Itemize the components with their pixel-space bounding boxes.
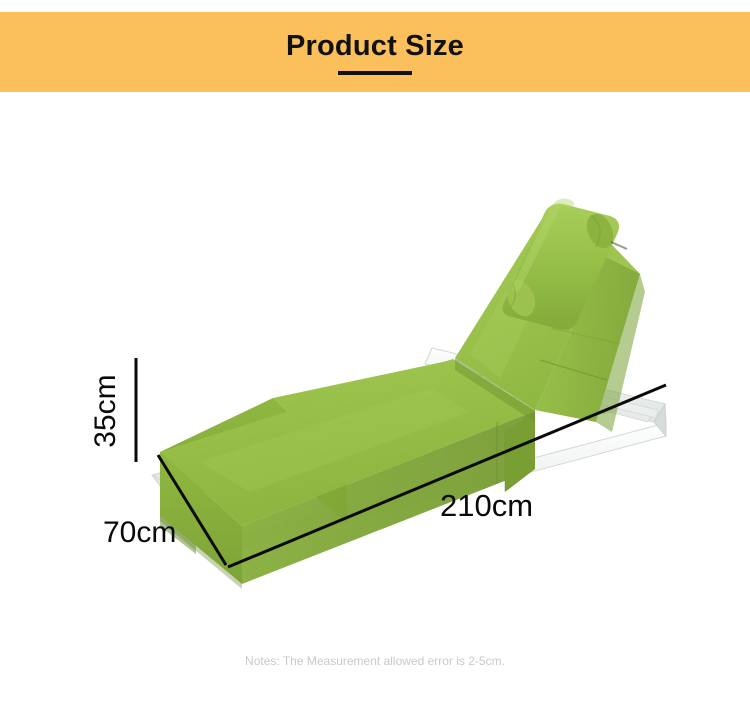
title-underline-rule xyxy=(338,71,412,75)
depth-dimension-label: 70cm xyxy=(103,518,176,548)
height-dimension-label: 35cm xyxy=(91,261,121,361)
length-dimension-label: 210cm xyxy=(440,490,533,521)
product-size-banner: Product Size xyxy=(0,12,750,92)
page-title: Product Size xyxy=(286,32,464,61)
measurement-note: Notes: The Measurement allowed error is … xyxy=(0,654,750,668)
